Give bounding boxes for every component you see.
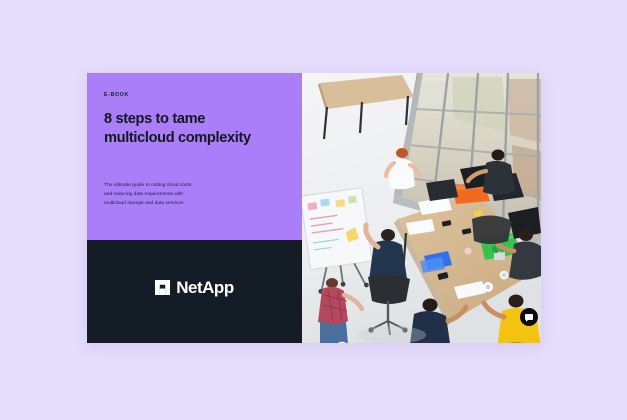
page-title: 8 steps to tame multicloud complexity — [104, 110, 285, 147]
netapp-logo: NetApp — [155, 279, 233, 296]
content-type-eyebrow: E-BOOK — [104, 92, 285, 98]
cover-footer-section: NetApp — [87, 240, 302, 343]
cover-top-section: E-BOOK 8 steps to tame multicloud comple… — [87, 73, 302, 240]
ebook-promo-card[interactable]: E-BOOK 8 steps to tame multicloud comple… — [87, 73, 541, 343]
ebook-cover-panel: E-BOOK 8 steps to tame multicloud comple… — [87, 73, 302, 343]
netapp-logo-mark-icon — [155, 280, 170, 295]
chat-bubble-icon — [525, 314, 533, 320]
cover-subtitle-line-2: and reducing data requirements with — [104, 190, 191, 199]
chat-bubble-badge[interactable] — [520, 308, 538, 326]
office-meeting-photo — [302, 73, 541, 343]
cover-title-line-2: multicloud complexity — [104, 130, 251, 146]
cover-subtitle-line-1: The ultimate guide to cutting cloud cost… — [104, 181, 191, 190]
office-meeting-illustration — [302, 73, 541, 343]
netapp-logo-text: NetApp — [176, 279, 233, 296]
cover-title-line-1: 8 steps to tame — [104, 111, 205, 127]
cover-subtitle: The ultimate guide to cutting cloud cost… — [104, 181, 191, 208]
cover-subtitle-line-3: multicloud storage and data services — [104, 199, 191, 208]
